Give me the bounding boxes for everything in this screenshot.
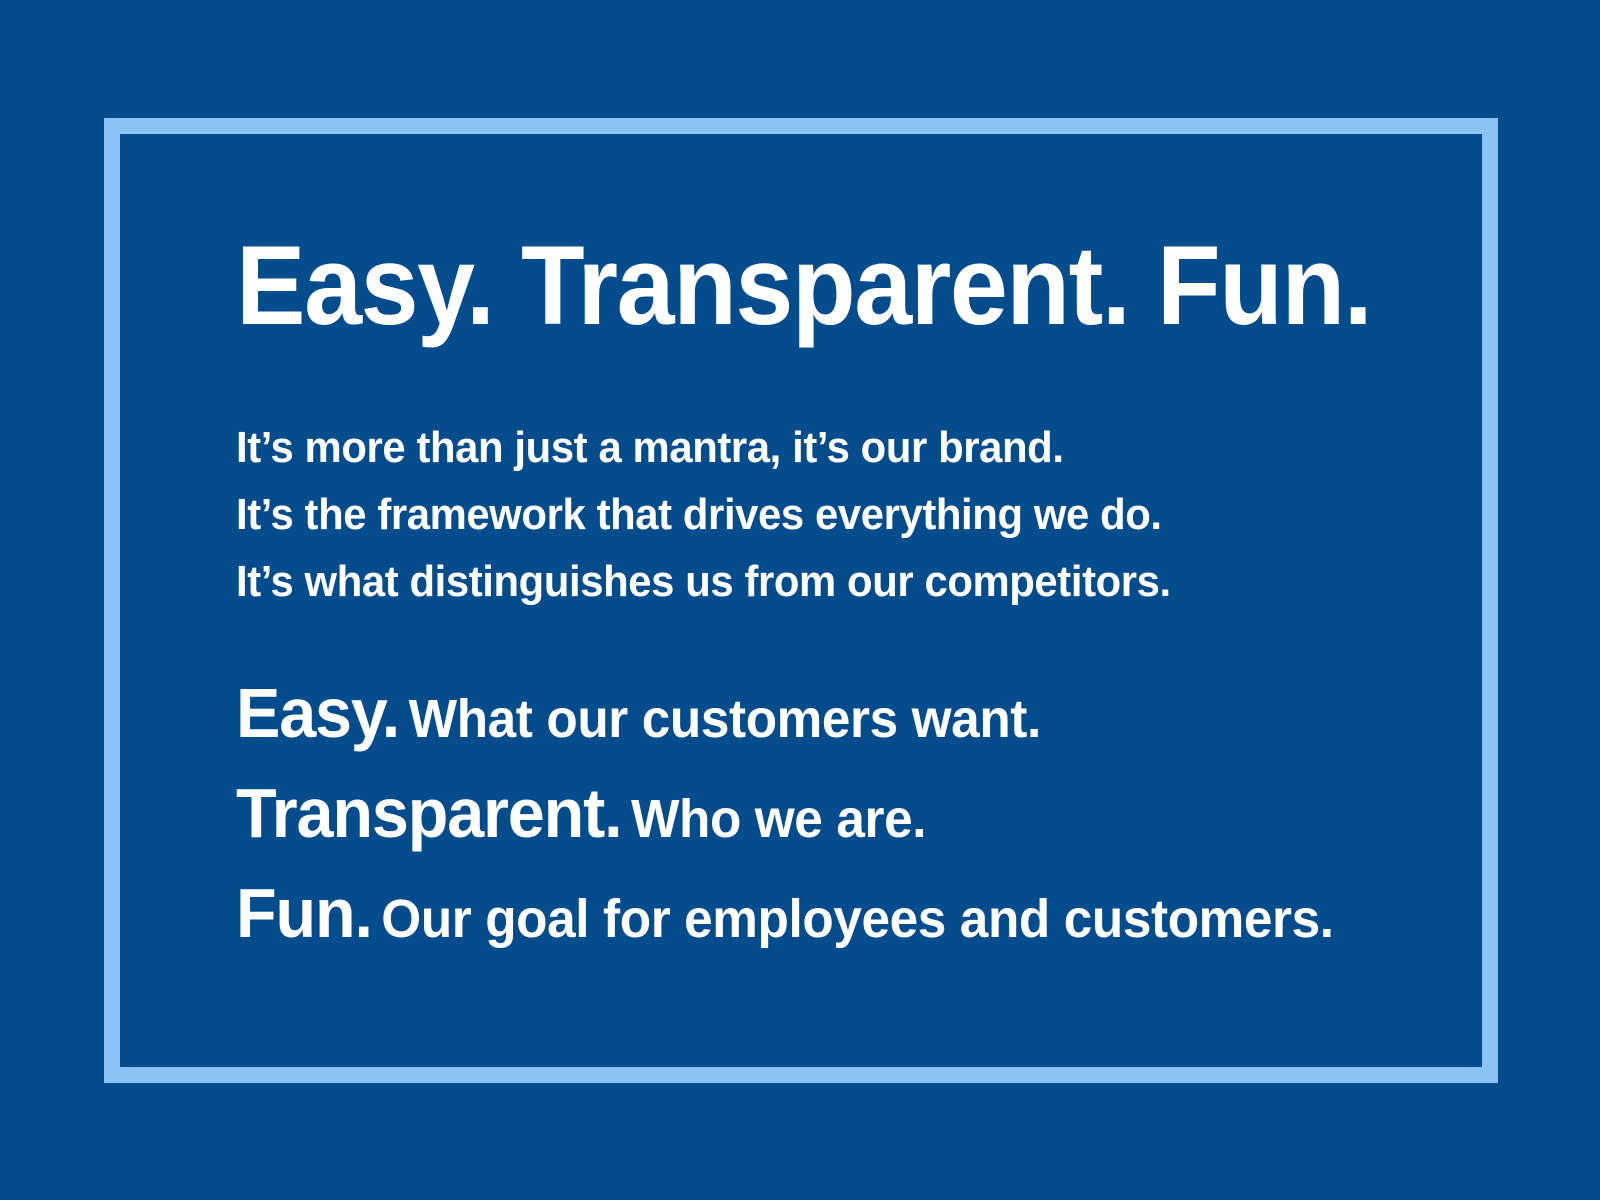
slide-content: Easy. Transparent. Fun. It’s more than j… bbox=[236, 228, 1436, 973]
page-title: Easy. Transparent. Fun. bbox=[236, 228, 1352, 344]
pillar-description: What our customers want. bbox=[409, 689, 1041, 749]
pillar-term: Fun. bbox=[236, 874, 372, 952]
intro-line: It’s more than just a mantra, it’s our b… bbox=[236, 414, 1376, 481]
pillar-description: Who we are. bbox=[631, 789, 926, 849]
intro-paragraph: It’s more than just a mantra, it’s our b… bbox=[236, 414, 1436, 615]
pillar-item: Fun.Our goal for employees and customers… bbox=[236, 873, 1376, 973]
intro-line: It’s the framework that drives everythin… bbox=[236, 481, 1376, 548]
pillar-term: Transparent. bbox=[236, 774, 621, 852]
pillar-description: Our goal for employees and customers. bbox=[381, 889, 1333, 949]
slide-canvas: Easy. Transparent. Fun. It’s more than j… bbox=[0, 0, 1600, 1200]
pillars-list: Easy.What our customers want. Transparen… bbox=[236, 673, 1436, 973]
pillar-item: Easy.What our customers want. bbox=[236, 673, 1376, 773]
pillar-term: Easy. bbox=[236, 674, 399, 752]
intro-line: It’s what distinguishes us from our comp… bbox=[236, 548, 1376, 615]
pillar-item: Transparent.Who we are. bbox=[236, 773, 1376, 873]
